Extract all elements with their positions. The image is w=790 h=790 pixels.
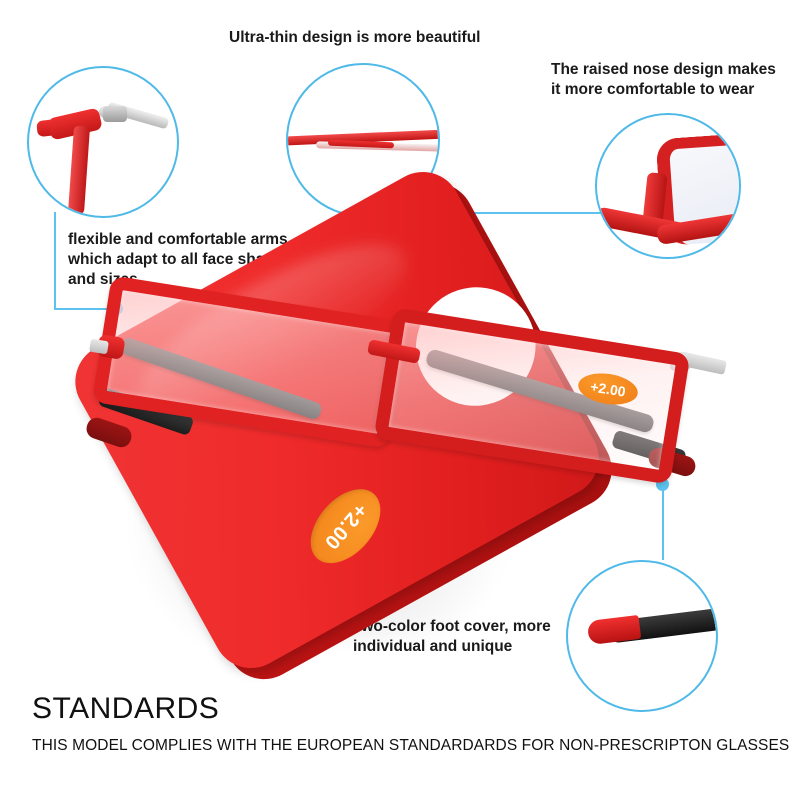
case-power-value: +2.00 <box>319 499 371 554</box>
lens-frame-left <box>92 275 408 448</box>
lens-frame-right <box>374 307 691 484</box>
callout-circle-flexible-arms <box>27 66 179 218</box>
temple-left-tip <box>84 415 134 450</box>
callout-label-ultra-thin: Ultra-thin design is more beautiful <box>229 28 529 48</box>
standards-heading: STANDARDS <box>32 692 219 726</box>
hinge-left <box>89 339 109 355</box>
product-photo: +2.00 <box>0 230 790 610</box>
standards-subtext: THIS MODEL COMPLIES WITH THE EUROPEAN ST… <box>32 737 789 755</box>
callout-label-raised-nose: The raised nose design makes it more com… <box>551 60 790 100</box>
eyeglasses: +2.00 <box>92 270 732 500</box>
infographic-canvas: Ultra-thin design is more beautiful The … <box>0 0 790 790</box>
lens-power-value: +2.00 <box>589 378 627 399</box>
